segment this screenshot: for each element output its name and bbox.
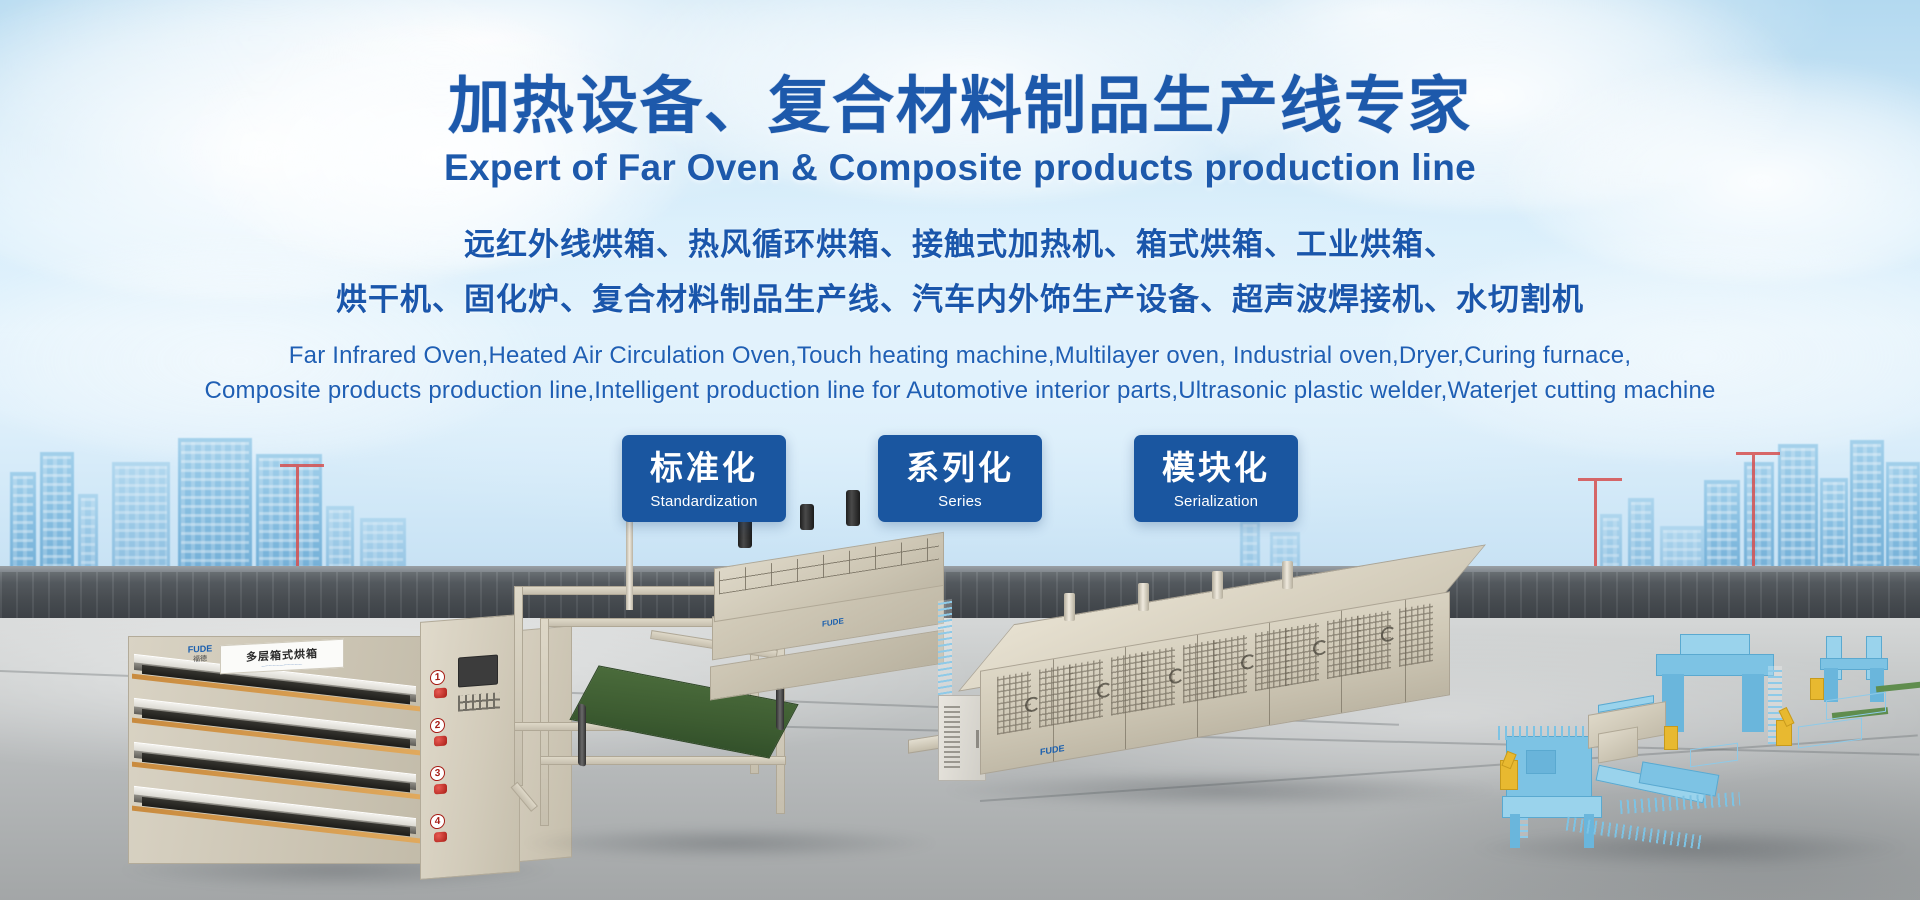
badge-label-en: Standardization (648, 493, 760, 510)
badge-standardization[interactable]: 标准化 Standardization (622, 435, 786, 522)
badge-label-en: Serialization (1160, 493, 1272, 510)
page-title-en: Expert of Far Oven & Composite products … (0, 147, 1920, 189)
subtitle-cn: 远红外线烘箱、热风循环烘箱、接触式加热机、箱式烘箱、工业烘箱、 烘干机、固化炉、… (0, 219, 1920, 325)
subtitle-cn-line-2: 烘干机、固化炉、复合材料制品生产线、汽车内外饰生产设备、超声波焊接机、水切割机 (0, 274, 1920, 325)
subtitle-en-line-2: Composite products production line,Intel… (0, 374, 1920, 409)
badge-label-cn: 系列化 (904, 449, 1016, 487)
ground-plane (0, 618, 1920, 900)
feature-badges: 标准化 Standardization 系列化 Series 模块化 Seria… (0, 435, 1920, 522)
badge-series[interactable]: 系列化 Series (878, 435, 1042, 522)
badge-label-cn: 标准化 (648, 449, 760, 487)
subtitle-en: Far Infrared Oven,Heated Air Circulation… (0, 339, 1920, 409)
banner-text-block: 加热设备、复合材料制品生产线专家 Expert of Far Oven & Co… (0, 0, 1920, 522)
hero-banner: 1 2 3 4 FUDE 福德 多层箱式烘箱 ——————————— (0, 0, 1920, 900)
subtitle-cn-line-1: 远红外线烘箱、热风循环烘箱、接触式加热机、箱式烘箱、工业烘箱、 (0, 219, 1920, 270)
perimeter-wall (0, 572, 1920, 620)
page-title-cn: 加热设备、复合材料制品生产线专家 (0, 74, 1920, 139)
badge-label-cn: 模块化 (1160, 449, 1272, 487)
badge-serialization[interactable]: 模块化 Serialization (1134, 435, 1298, 522)
subtitle-en-line-1: Far Infrared Oven,Heated Air Circulation… (0, 339, 1920, 374)
badge-label-en: Series (904, 493, 1016, 510)
